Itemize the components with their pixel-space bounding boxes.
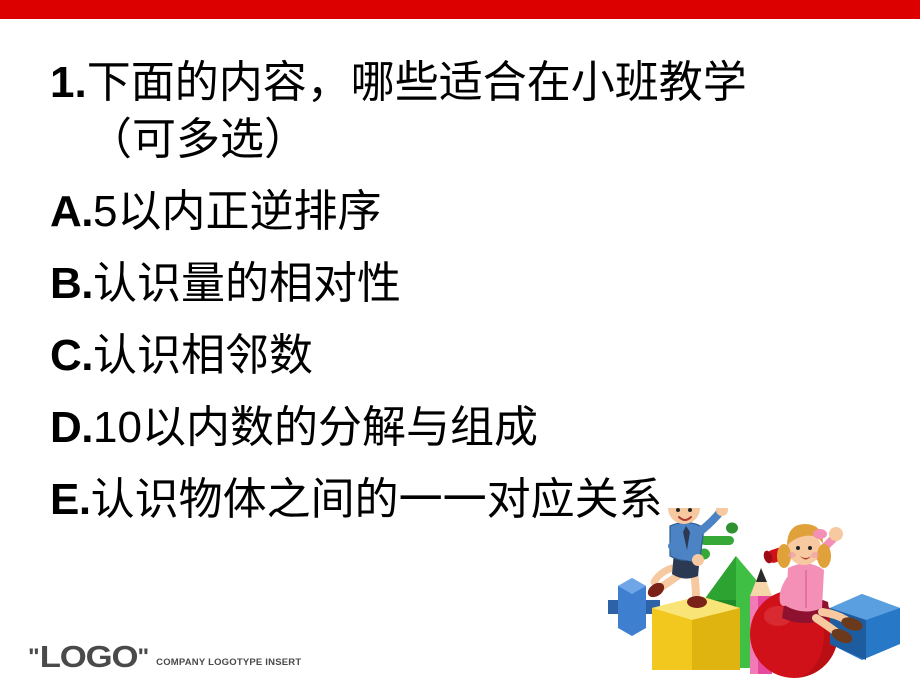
option-b-text: 认识量的相对性 [93,259,401,308]
option-c-text: 认识相邻数 [93,331,313,380]
option-e-text: 认识物体之间的一一对应关系 [91,475,663,524]
logo-quote-left: " [28,644,40,669]
logo-wordmark: "LOGO" [28,641,149,672]
option-c-key: C. [50,331,93,380]
question-line2: （可多选） [50,111,890,168]
question-line1: 下面的内容，哪些适合在小班教学 [87,58,747,107]
question-number: 1. [50,58,87,107]
option-e-key: E. [50,475,91,524]
option-a-text: 5以内正逆排序 [93,187,381,236]
logo-text: LOGO [40,639,138,674]
option-d: D.10以内数的分解与组成 [0,399,920,456]
top-accent-bar [0,0,920,19]
logo-area: "LOGO" COMPANY LOGOTYPE INSERT [28,641,301,672]
option-a: A.5以内正逆排序 [0,183,920,240]
slide-content: 1.下面的内容，哪些适合在小班教学 （可多选） A.5以内正逆排序 B.认识量的… [0,54,920,528]
question-text: 1.下面的内容，哪些适合在小班教学 （可多选） [0,54,890,168]
logo-subtitle: COMPANY LOGOTYPE INSERT [156,657,301,672]
option-b-key: B. [50,259,93,308]
option-d-key: D. [50,403,93,452]
option-c: C.认识相邻数 [0,327,920,384]
option-b: B.认识量的相对性 [0,255,920,312]
clipart-children-math-shapes [608,508,920,678]
option-d-text: 10以内数的分解与组成 [93,403,538,452]
slide-canvas: 1.下面的内容，哪些适合在小班教学 （可多选） A.5以内正逆排序 B.认识量的… [0,0,920,690]
blue-hexagon-shape [830,594,900,660]
logo-quote-right: " [137,644,149,669]
option-a-key: A. [50,187,93,236]
